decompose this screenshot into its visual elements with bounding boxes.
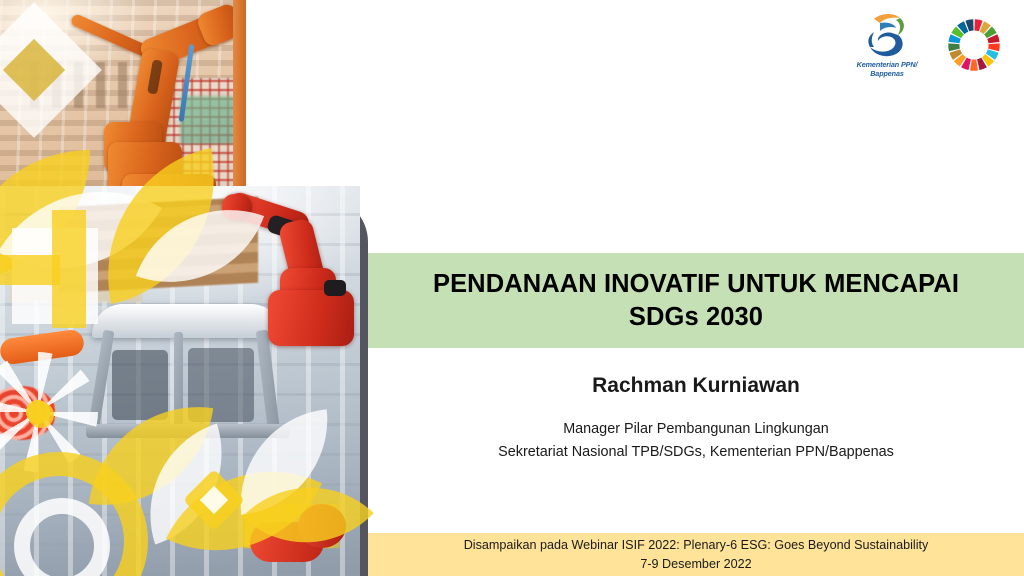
- bappenas-logo-caption: Kementerian PPN/ Bappenas: [857, 60, 918, 78]
- event-footer-band: Disampaikan pada Webinar ISIF 2022: Plen…: [368, 533, 1024, 576]
- red-robot-base-detail: [324, 280, 346, 296]
- orange-robot-arm: [88, 14, 238, 196]
- footer-line-2: 7-9 Desember 2022: [640, 555, 751, 574]
- slide-title-band: PENDANAAN INOVATIF UNTUK MENCAPAI SDGs 2…: [368, 253, 1024, 348]
- car-a-pillar: [89, 330, 115, 427]
- presentation-slide: Kementerian PPN/ Bappenas PENDANAAN INOV…: [0, 0, 1024, 576]
- red-robot-arm-upper: [226, 192, 356, 362]
- car-front-door-opening: [112, 350, 168, 420]
- bottom-photo-assembly-line: [0, 186, 360, 576]
- speaker-role: Manager Pilar Pembangunan Lingkungan Sek…: [368, 418, 1024, 463]
- top-photo-industrial-robot: [0, 0, 246, 196]
- bappenas-caption-line-2: Bappenas: [857, 69, 918, 78]
- bappenas-caption-line-1: Kementerian PPN/: [857, 60, 918, 69]
- car-b-pillar: [174, 332, 183, 432]
- red-robot-arm-lower: [244, 496, 354, 574]
- sdg-wheel-icon: [946, 17, 1002, 73]
- speaker-name: Rachman Kurniawan: [368, 372, 1024, 399]
- car-sill: [86, 424, 290, 438]
- red-robot-lower-joint: [298, 504, 346, 548]
- speaker-role-line-2: Sekretariat Nasional TPB/SDGs, Kementeri…: [368, 441, 1024, 463]
- red-robot-tool: [222, 194, 252, 220]
- sdg-wheel-logo: [946, 17, 1002, 73]
- red-robot-base: [268, 290, 354, 346]
- bappenas-mark-icon: [858, 12, 916, 58]
- slide-title-line-2: SDGs 2030: [629, 301, 763, 334]
- logo-group: Kementerian PPN/ Bappenas: [844, 12, 1002, 78]
- orange-accent-strip: [233, 0, 246, 196]
- bappenas-logo: Kementerian PPN/ Bappenas: [844, 12, 930, 78]
- photo-clip: [0, 186, 360, 576]
- slide-title-line-1: PENDANAAN INOVATIF UNTUK MENCAPAI: [433, 268, 959, 301]
- speaker-role-line-1: Manager Pilar Pembangunan Lingkungan: [368, 418, 1024, 440]
- sdg-wheel-segment-9: [970, 59, 978, 70]
- speaker-block: Rachman Kurniawan Manager Pilar Pembangu…: [368, 372, 1024, 463]
- footer-line-1: Disampaikan pada Webinar ISIF 2022: Plen…: [464, 536, 929, 555]
